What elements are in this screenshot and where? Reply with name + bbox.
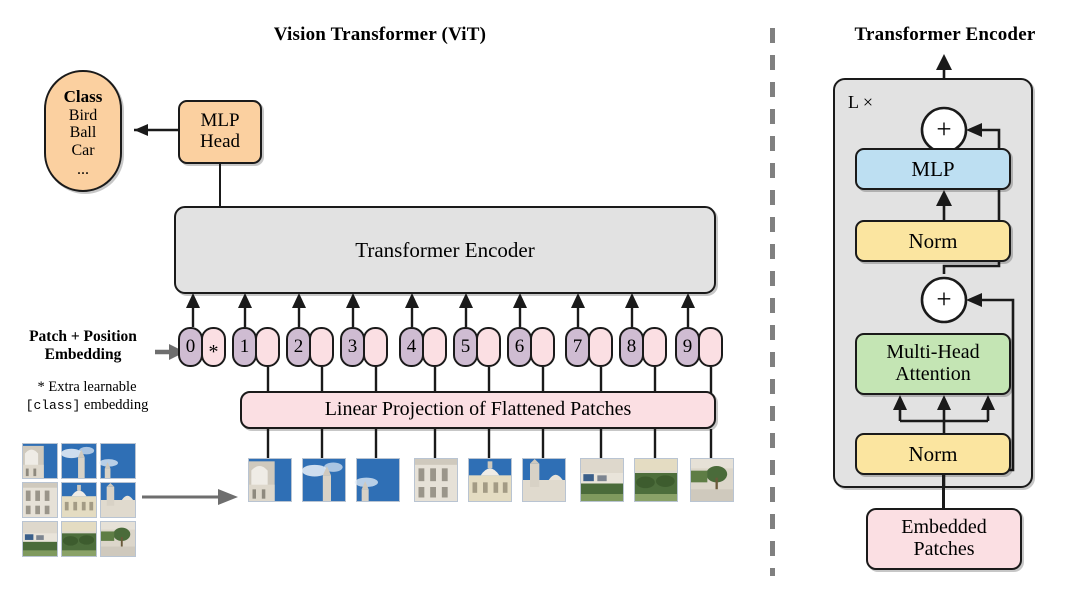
encoder-norm-bottom-label: Norm <box>855 433 1011 475</box>
sequence-patch-4 <box>468 458 512 502</box>
sequence-patch-0 <box>248 458 292 502</box>
embedded-patches-line1: Embedded <box>901 517 987 539</box>
encoder-attention-label: Multi-Head Attention <box>855 333 1011 395</box>
residual-add-bottom: + <box>922 278 966 322</box>
sequence-patch-1 <box>302 458 346 502</box>
sequence-patch-3 <box>414 458 458 502</box>
embedded-patches-line2: Patches <box>913 539 974 561</box>
sequence-patch-5 <box>522 458 566 502</box>
sequence-patch-7 <box>634 458 678 502</box>
residual-add-top: + <box>922 108 966 152</box>
sequence-patch-2 <box>356 458 400 502</box>
sequence-patch-6 <box>580 458 624 502</box>
embedded-patches-label: Embedded Patches <box>866 508 1022 570</box>
sequence-patch-8 <box>690 458 734 502</box>
attention-line2: Attention <box>895 364 971 386</box>
arrows-norm-to-attention <box>880 395 1000 435</box>
panel-divider <box>770 28 775 576</box>
encoder-norm-top-label: Norm <box>855 220 1011 262</box>
encoder-mlp-label: MLP <box>855 148 1011 190</box>
arrow-normtop-to-mlp <box>930 190 960 222</box>
connector-embedded-to-encoder <box>942 475 945 509</box>
page-title-encoder: Transformer Encoder <box>820 24 1070 46</box>
attention-line1: Multi-Head <box>886 342 979 364</box>
